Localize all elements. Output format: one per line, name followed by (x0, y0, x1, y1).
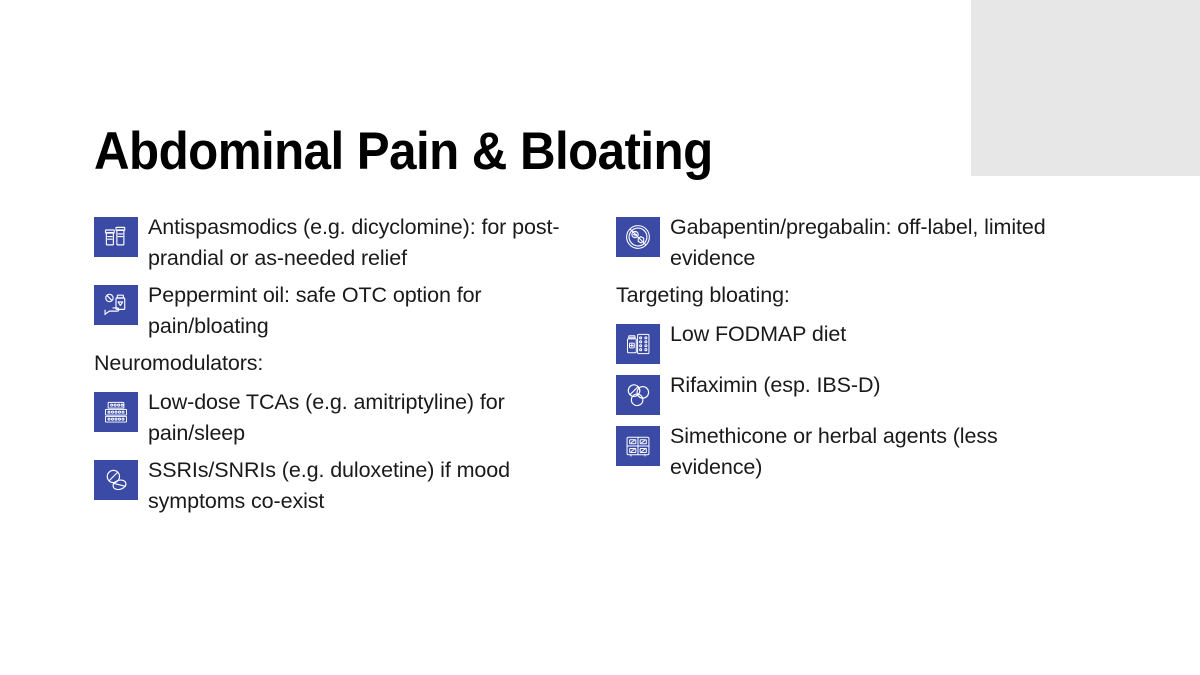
list-item[interactable]: Peppermint oil: safe OTC option for pain… (94, 280, 564, 342)
right-column: Gabapentin/pregabalin: off-label, limite… (616, 212, 1086, 489)
list-item-label: SSRIs/SNRIs (e.g. duloxetine) if mood sy… (148, 455, 564, 517)
three-pills-icon (616, 375, 660, 415)
no-pills-prohibited-icon (616, 217, 660, 257)
decorative-corner-block (971, 0, 1200, 176)
blister-pack-icon (94, 392, 138, 432)
pill-organizer-box-icon (616, 426, 660, 466)
list-item-label: Peppermint oil: safe OTC option for pain… (148, 280, 564, 342)
list-item[interactable]: Low-dose TCAs (e.g. amitriptyline) for p… (94, 387, 564, 449)
pill-bottles-icon (94, 217, 138, 257)
list-item-label: Simethicone or herbal agents (less evide… (670, 421, 1086, 483)
list-item-label: Antispasmodics (e.g. dicyclomine): for p… (148, 212, 564, 274)
section-heading-neuromodulators: Neuromodulators: (94, 348, 564, 379)
section-heading-targeting-bloating: Targeting bloating: (616, 280, 1086, 311)
list-item-label: Rifaximin (esp. IBS-D) (670, 370, 880, 401)
bottle-and-blister-pack-icon (616, 324, 660, 364)
list-item[interactable]: Low FODMAP diet (616, 319, 1086, 364)
left-column: Antispasmodics (e.g. dicyclomine): for p… (94, 212, 564, 523)
page-title: Abdominal Pain & Bloating (94, 120, 713, 184)
list-item[interactable]: Antispasmodics (e.g. dicyclomine): for p… (94, 212, 564, 274)
list-item-label: Gabapentin/pregabalin: off-label, limite… (670, 212, 1086, 274)
hand-holding-medicine-icon (94, 285, 138, 325)
list-item-label: Low-dose TCAs (e.g. amitriptyline) for p… (148, 387, 564, 449)
list-item-label: Low FODMAP diet (670, 319, 846, 350)
list-item[interactable]: SSRIs/SNRIs (e.g. duloxetine) if mood sy… (94, 455, 564, 517)
list-item[interactable]: Simethicone or herbal agents (less evide… (616, 421, 1086, 483)
list-item[interactable]: Gabapentin/pregabalin: off-label, limite… (616, 212, 1086, 274)
list-item[interactable]: Rifaximin (esp. IBS-D) (616, 370, 1086, 415)
two-tablets-icon (94, 460, 138, 500)
